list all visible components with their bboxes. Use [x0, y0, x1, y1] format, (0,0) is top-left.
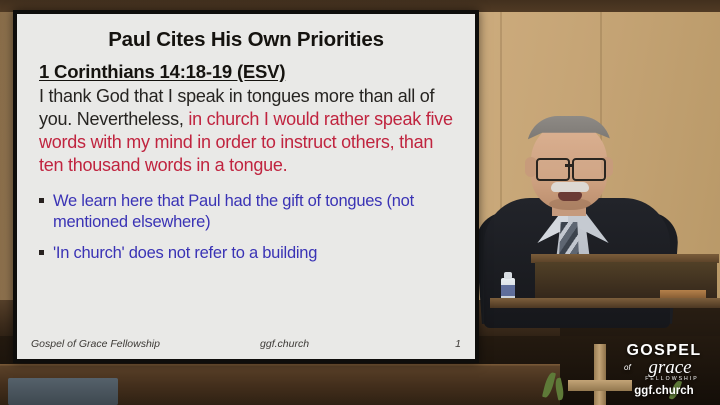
- slide-footer: Gospel of Grace Fellowship ggf.church 1: [31, 338, 461, 350]
- bullet-square-icon: [39, 250, 44, 255]
- footer-organization: Gospel of Grace Fellowship: [31, 338, 160, 350]
- list-item-label: 'In church' does not refer to a building: [53, 244, 317, 262]
- footer-website: ggf.church: [160, 338, 455, 350]
- mouth: [558, 192, 582, 201]
- eyeglasses-bridge: [565, 164, 574, 167]
- presentation-slide: Paul Cites His Own Priorities 1 Corinthi…: [17, 14, 475, 359]
- list-item: We learn here that Paul had the gift of …: [39, 191, 461, 231]
- projection-screen: Paul Cites His Own Priorities 1 Corinthi…: [13, 10, 479, 363]
- eyeglasses-right-lens: [572, 158, 606, 181]
- channel-logo-watermark: GOSPEL of grace FELLOWSHIP ggf.church: [616, 343, 712, 397]
- logo-url-text: ggf.church: [616, 386, 712, 398]
- pulpit-ledge: [490, 298, 720, 308]
- scripture-reference: 1 Corinthians 14:18-19 (ESV): [39, 61, 461, 83]
- slide-title: Paul Cites His Own Priorities: [31, 29, 461, 52]
- logo-script-row: of grace: [616, 358, 712, 379]
- list-item-label: We learn here that Paul had the gift of …: [53, 192, 414, 230]
- bullet-square-icon: [39, 198, 44, 203]
- list-item: 'In church' does not refer to a building: [39, 243, 461, 263]
- video-frame: Paul Cites His Own Priorities 1 Corinthi…: [0, 0, 720, 405]
- mustache: [551, 182, 589, 192]
- logo-of-text: of: [624, 364, 631, 372]
- slide-page-number: 1: [455, 338, 461, 350]
- scripture-text: I thank God that I speak in tongues more…: [39, 85, 461, 178]
- water-bottle-label: [501, 285, 515, 296]
- eyeglasses-left-lens: [536, 158, 570, 181]
- water-bottle-cap: [504, 272, 512, 279]
- bullet-list: We learn here that Paul had the gift of …: [39, 191, 461, 262]
